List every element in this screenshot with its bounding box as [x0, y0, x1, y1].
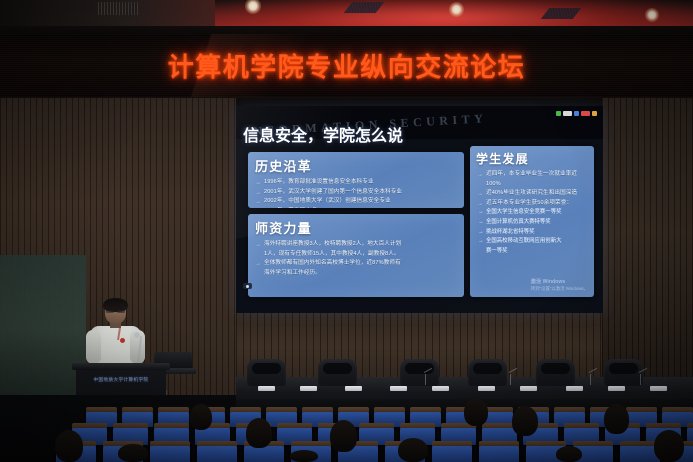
- audience-member-head: [246, 418, 272, 448]
- podium-top-surface: [72, 363, 170, 370]
- table-microphone-icon: [425, 374, 426, 385]
- panel-heading: 历史沿革: [255, 156, 464, 175]
- table-nameplate: [258, 386, 275, 391]
- microphone-icon: [134, 332, 140, 338]
- auditorium-seat: [197, 446, 237, 462]
- bullet-item: 1996年，教育部批准设置信息安全本科专业: [255, 178, 460, 188]
- projection-screen: INFORMATION SECURITY 信息安全，学院怎么说 历史沿革 199…: [236, 106, 603, 313]
- audience-member-head: [398, 438, 428, 462]
- table-microphone-icon: [640, 374, 641, 385]
- bullet-item: 全体教师都有国内外知名高校博士学位，近87%教师有: [255, 259, 460, 269]
- audience-member-head: [556, 446, 582, 462]
- sub-bullet-item: 全国大学生信息安全竞赛一等奖: [478, 208, 594, 218]
- table-nameplate: [520, 386, 537, 391]
- audience-member-head: [604, 404, 629, 434]
- panel-chair: [247, 359, 286, 386]
- audience-member-head: [330, 420, 357, 452]
- table-nameplate: [345, 386, 362, 391]
- panel-chair: [400, 359, 439, 386]
- statusbar-chip: [592, 111, 597, 116]
- statusbar-chip: [574, 111, 579, 116]
- led-banner-text: 计算机学院专业纵向交流论坛: [168, 47, 526, 84]
- podium-label: 中国地质大学计算机学院: [76, 377, 166, 383]
- table-nameplate: [608, 386, 625, 391]
- bullet-list: 近四年，本专业毕业生一次就业率近100%近40%毕业生攻读研究生和出国深造近五年…: [477, 170, 590, 208]
- sub-bullet-item: 挑战杯湖北省特等奖: [478, 228, 594, 238]
- statusbar-chip: [556, 111, 561, 116]
- bullet-list: 1996年，教育部批准设置信息安全本科专业2001年，武汉大学创建了国内第一个信…: [255, 178, 460, 208]
- auditorium-seat: [244, 446, 284, 462]
- auditorium-seat: [479, 446, 519, 462]
- table-nameplate: [432, 386, 449, 391]
- presenter-sleeve-left: [86, 330, 101, 364]
- audience-member-head: [118, 444, 148, 462]
- table-nameplate: [300, 386, 317, 391]
- statusbar-chip: [563, 111, 572, 116]
- panel-chair: [604, 359, 643, 386]
- audience-member-head: [512, 406, 538, 436]
- panel-chair: [468, 359, 507, 386]
- auditorium-scene: 计算机学院专业纵向交流论坛 INFORMATION SECURITY 信息安全，…: [0, 0, 693, 462]
- windows-activation-watermark: 激活 Windows 转到"设置"以激活 Windows。: [531, 279, 588, 292]
- sub-bullet-list: 全国大学生信息安全竞赛一等奖全国计算机仿真大赛特等奖挑战杯湖北省特等奖全国高校移…: [478, 208, 594, 256]
- slide-title: 信息安全，学院怎么说: [243, 122, 403, 146]
- bullet-item: 2002年，中国地质大学（武汉）创建信息安全专业: [255, 197, 460, 207]
- ceiling-spotlight: [449, 2, 464, 17]
- audience-member-head: [654, 430, 684, 462]
- panel-chair: [318, 359, 357, 386]
- bullet-item: 近五年本专业学生获50余项荣誉：: [477, 199, 590, 209]
- bullet-item: 近40%毕业生攻读研究生和出国深造: [477, 189, 590, 199]
- bullet-list: 海外特聘讲座教授3人，校特聘教授2人，地大百人计划1人，现有专任教师15人，其中…: [255, 240, 460, 278]
- audience-member-head: [290, 450, 318, 462]
- activation-line-1: 激活 Windows: [531, 279, 588, 286]
- table-nameplate: [478, 386, 495, 391]
- table-nameplate: [390, 386, 407, 391]
- bullet-item: 海外特聘讲座教授3人，校特聘教授2人，地大百人计划: [255, 240, 460, 250]
- bullet-item: 100%: [477, 180, 590, 190]
- bullet-item: 2014年，获批硕士点: [255, 207, 460, 208]
- bullet-item: 近四年，本专业毕业生一次就业率近: [477, 170, 590, 180]
- auditorium-seat: [150, 446, 190, 462]
- bullet-item: 1人，现有专任教师15人，其中教授4人，副教授8人。: [255, 250, 460, 260]
- ceiling-spotlight: [645, 8, 659, 22]
- slide-panel-faculty: 师资力量 海外特聘讲座教授3人，校特聘教授2人，地大百人计划1人，现有专任教师1…: [248, 214, 464, 297]
- bullet-item: 2001年，武汉大学创建了国内第一个信息安全本科专业: [255, 188, 460, 198]
- panel-heading: 学生发展: [476, 150, 594, 167]
- presenter-pointer-badge: [243, 283, 252, 289]
- audience-member-head: [464, 398, 488, 426]
- glasses-icon: [106, 309, 125, 313]
- slide-panel-history: 历史沿革 1996年，教育部批准设置信息安全本科专业2001年，武汉大学创建了国…: [248, 152, 464, 208]
- audience-member-head: [55, 430, 83, 462]
- table-microphone-icon: [590, 374, 591, 385]
- audience-member-head: [190, 404, 212, 430]
- slide-panel-student-development: 学生发展 近四年，本专业毕业生一次就业率近100%近40%毕业生攻读研究生和出国…: [470, 146, 594, 297]
- presenter-badge: [120, 338, 125, 343]
- ceiling-vent-grille: [98, 2, 138, 15]
- table-microphone-icon: [510, 374, 511, 385]
- auditorium-seat: [432, 446, 472, 462]
- sub-bullet-item: 全国计算机仿真大赛特等奖: [478, 218, 594, 228]
- activation-line-2: 转到"设置"以激活 Windows。: [531, 286, 588, 292]
- wood-wall-right: [602, 98, 693, 398]
- panel-chair: [536, 359, 575, 386]
- green-wall-panel: [0, 255, 86, 405]
- sub-bullet-item: 全国高校移动互联网应用创新大: [478, 237, 594, 247]
- statusbar-chip: [581, 111, 590, 116]
- led-banner: 计算机学院专业纵向交流论坛: [0, 34, 693, 98]
- sub-bullet-item: 赛一等奖: [478, 247, 594, 257]
- table-nameplate: [566, 386, 583, 391]
- presentation-statusbar: [556, 111, 597, 116]
- table-nameplate: [650, 386, 667, 391]
- panel-heading: 师资力量: [255, 218, 464, 237]
- bullet-item: 海外学习和工作经历。: [255, 269, 460, 279]
